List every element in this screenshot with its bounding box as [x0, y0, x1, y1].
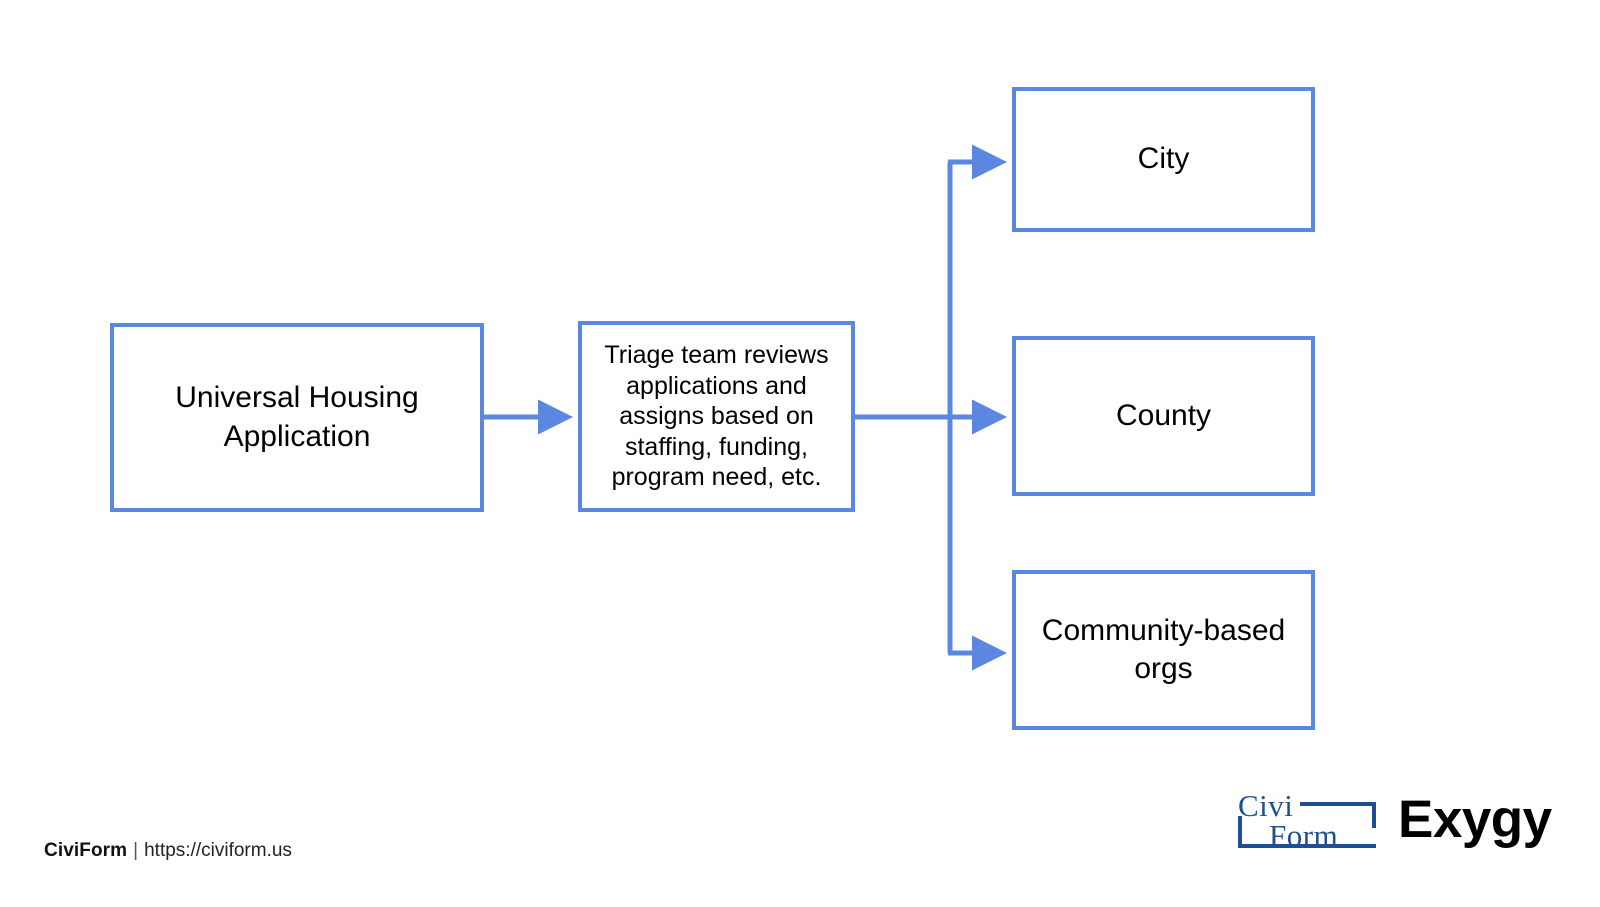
edge-triage-trunk: [855, 162, 950, 653]
node-city[interactable]: City: [1012, 87, 1315, 232]
logo-lockup: Civi Form Exygy: [1238, 788, 1552, 850]
node-triage-team-label: Triage team reviews applications and ass…: [582, 340, 851, 493]
civiform-logo-icon: Civi Form: [1238, 788, 1376, 850]
node-community-based-orgs[interactable]: Community-based orgs: [1012, 570, 1315, 730]
footer-url[interactable]: https://civiform.us: [144, 840, 292, 861]
node-county[interactable]: County: [1012, 336, 1315, 496]
footer-brand-name: CiviForm: [44, 840, 127, 861]
exygy-wordmark: Exygy: [1398, 793, 1552, 846]
footer-credit: CiviForm|https://civiform.us: [44, 840, 292, 862]
node-universal-housing-application-label: Universal Housing Application: [114, 379, 480, 456]
node-city-label: City: [1016, 140, 1311, 178]
node-community-based-orgs-label: Community-based orgs: [1016, 612, 1311, 689]
footer-separator: |: [127, 840, 144, 861]
node-county-label: County: [1016, 397, 1311, 435]
civiform-logo-bracket-bottom-extension: [1266, 844, 1376, 848]
diagram-canvas: Universal Housing Application Triage tea…: [0, 0, 1600, 907]
node-triage-team[interactable]: Triage team reviews applications and ass…: [578, 321, 855, 512]
node-universal-housing-application[interactable]: Universal Housing Application: [110, 323, 484, 512]
